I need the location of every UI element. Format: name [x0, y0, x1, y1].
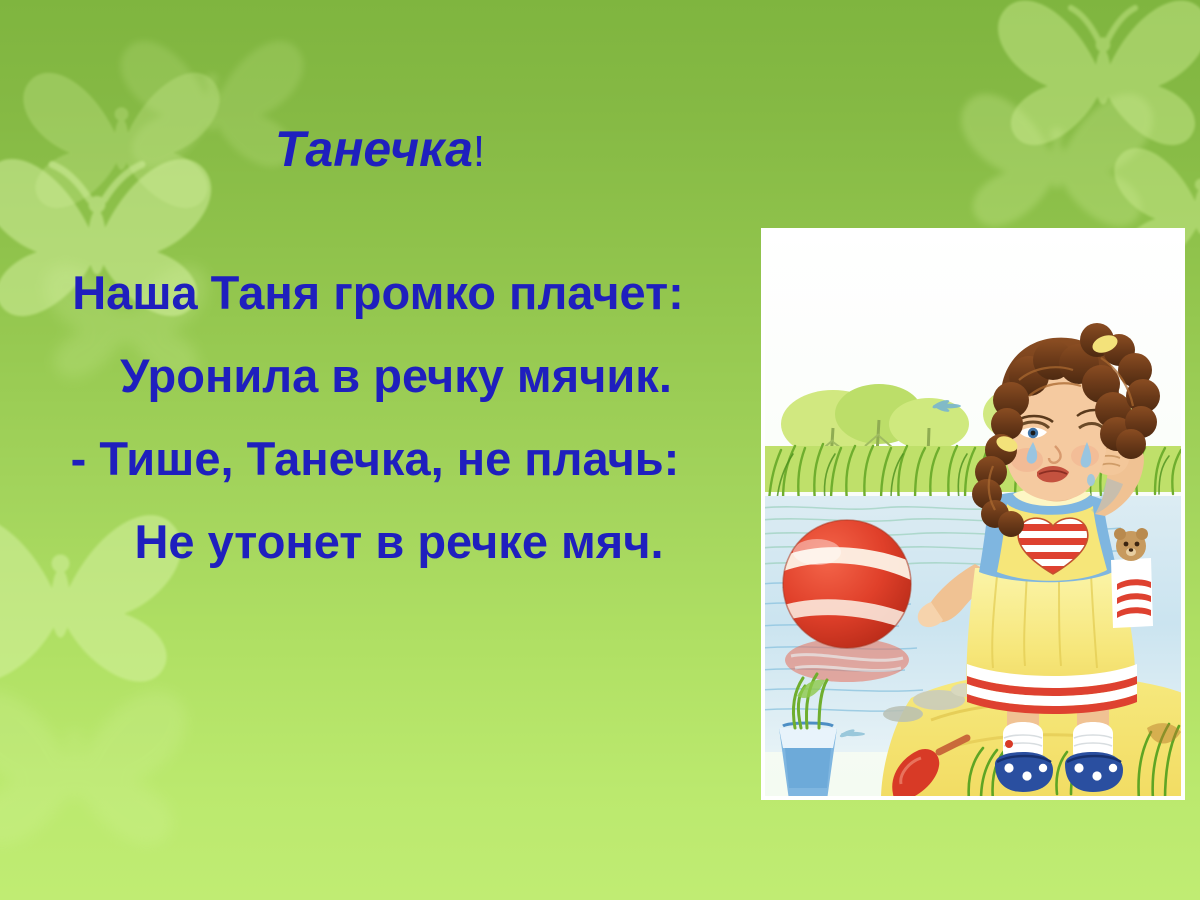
butterfly-icon — [0, 682, 197, 872]
poem-text-block: Наша Таня громко плачет: Уронила в речку… — [0, 264, 756, 596]
slide-title: Танечка! — [0, 124, 760, 174]
butterfly-icon — [952, 88, 1162, 248]
poem-line: Не утонет в речке мяч. — [0, 513, 756, 596]
butterfly-icon — [988, 0, 1200, 169]
poem-line: Наша Таня громко плачет: — [0, 264, 756, 347]
poem-line: - Тише, Танечка, не плачь: — [0, 430, 756, 513]
slide-title-exclamation: ! — [473, 127, 485, 176]
poem-line: Уронила в речку мячик. — [0, 347, 756, 430]
slide-canvas: Танечка! Наша Таня громко плачет: Уронил… — [0, 0, 1200, 900]
crying-girl-with-ball-illustration — [761, 228, 1185, 800]
slide-title-text: Танечка — [275, 121, 473, 177]
